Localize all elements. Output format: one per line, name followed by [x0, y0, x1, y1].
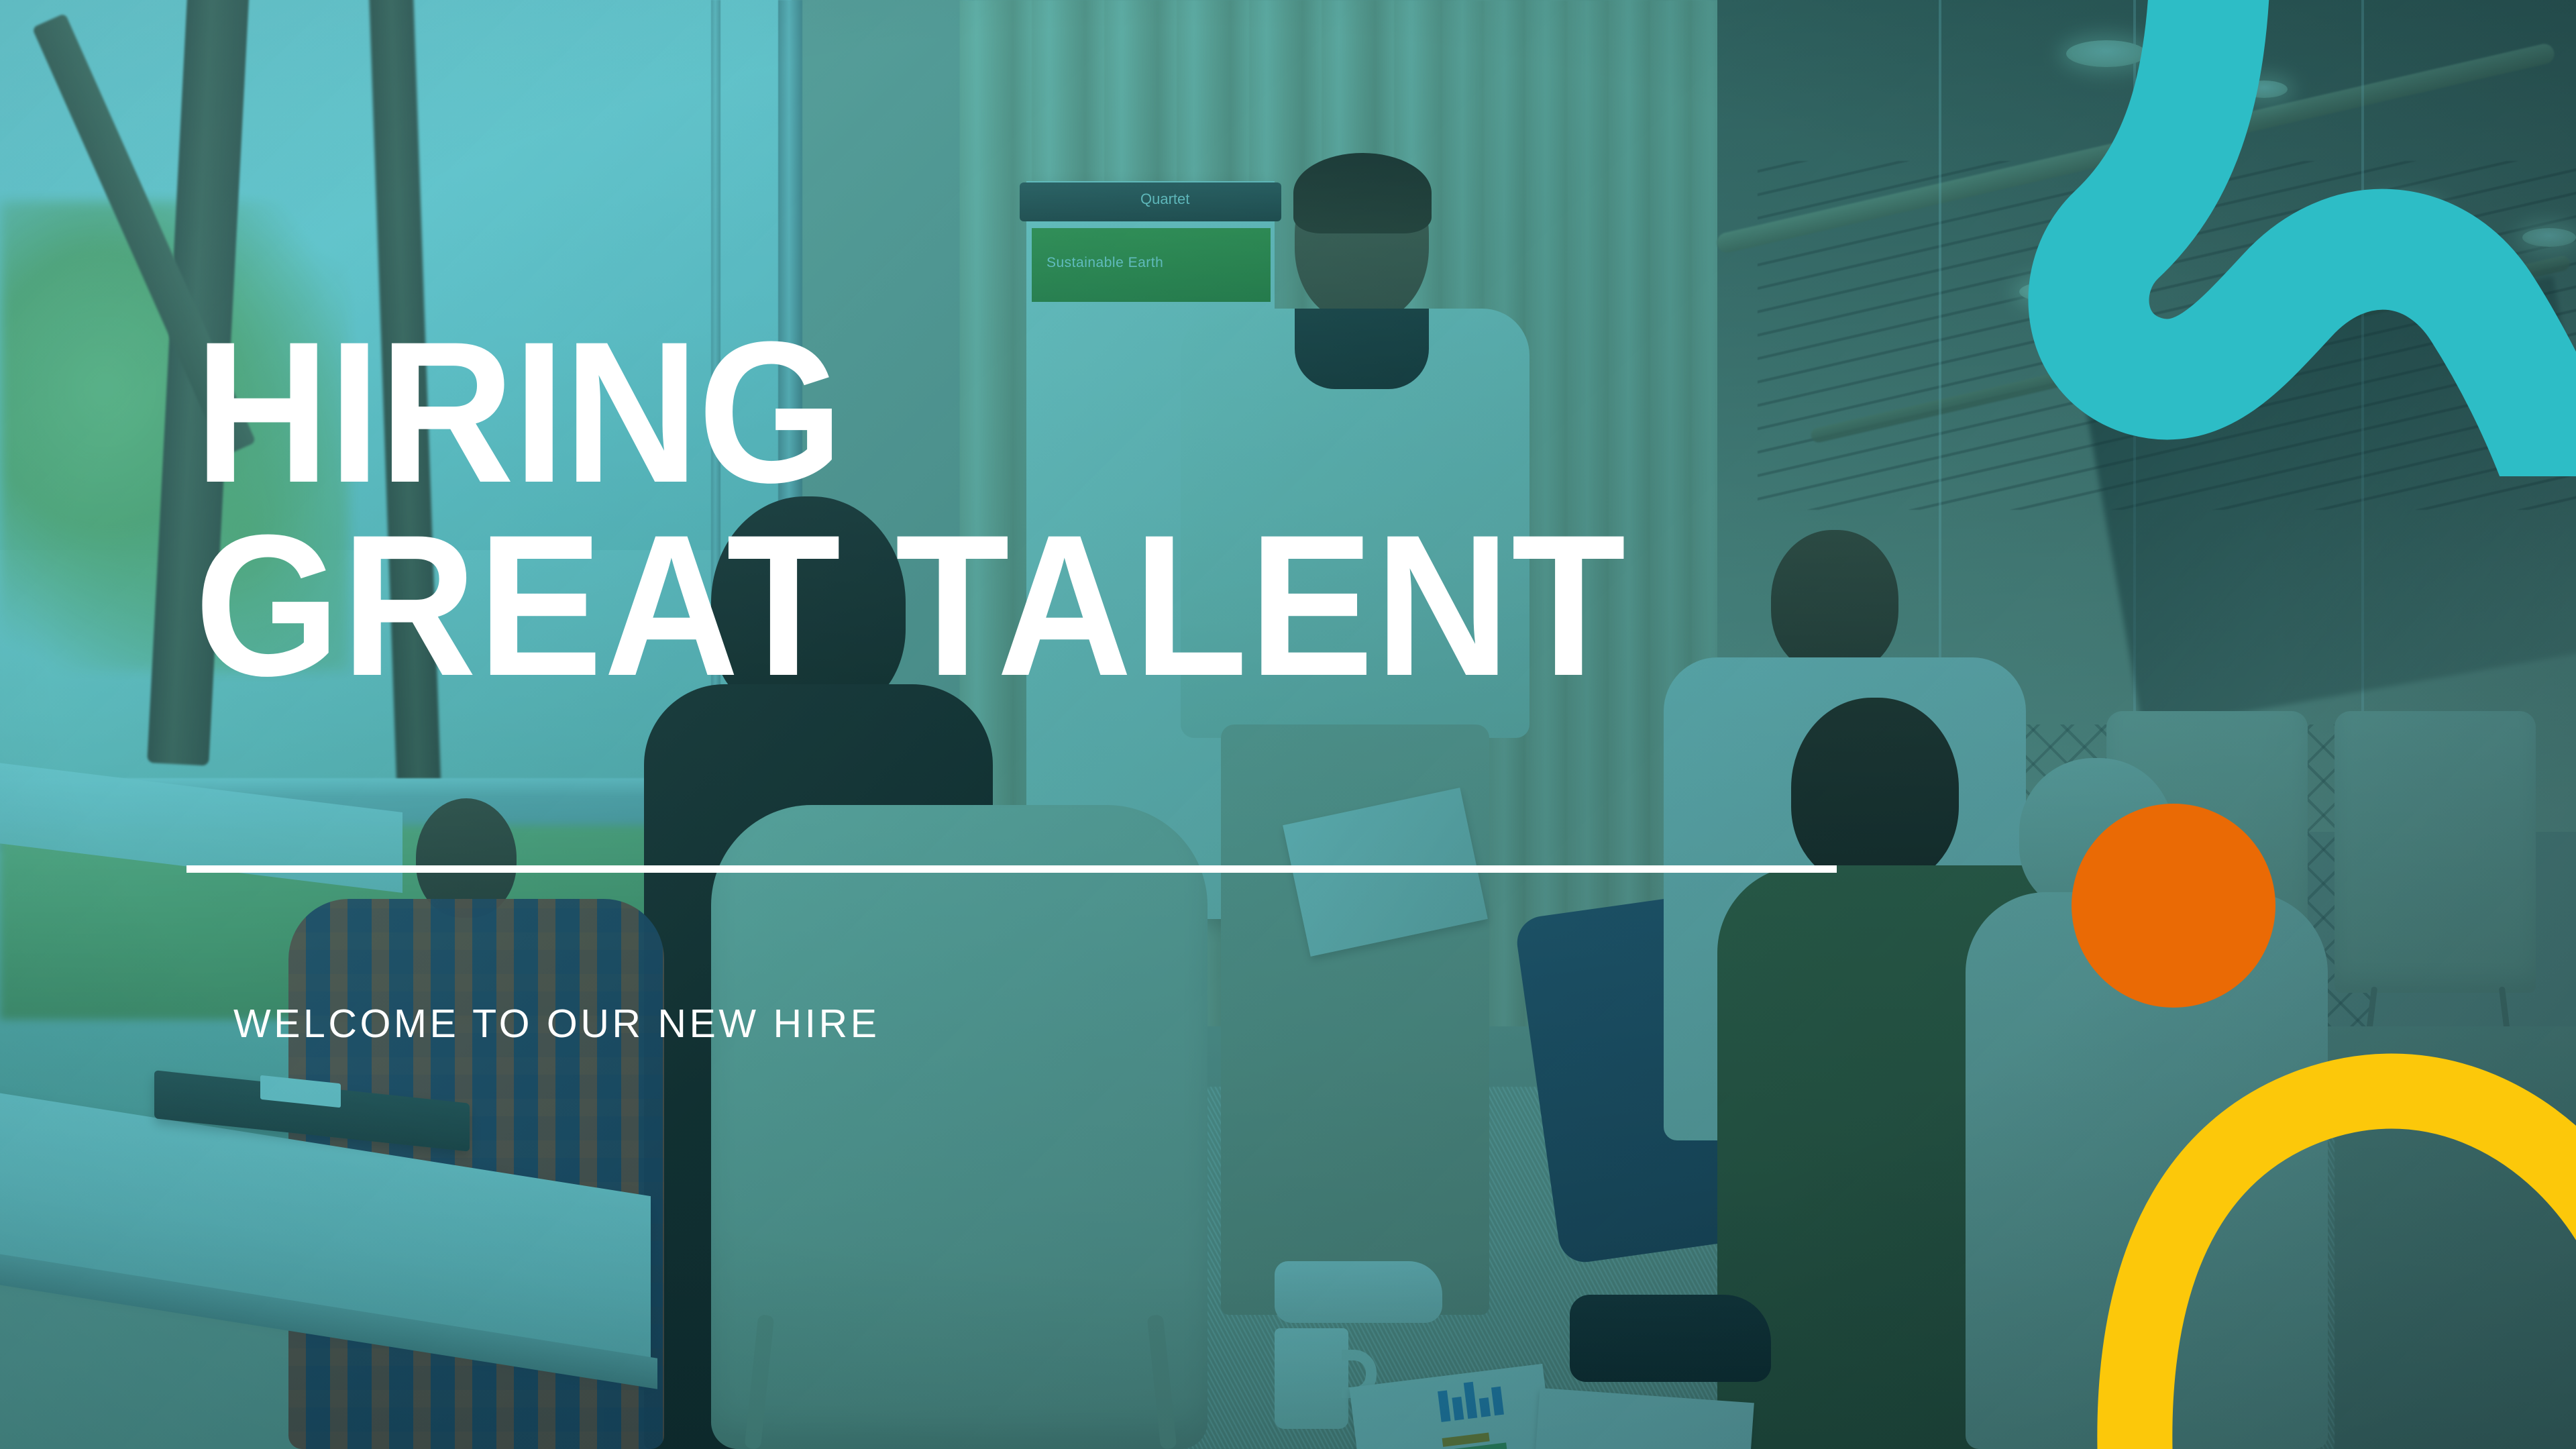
headline-line-1: HIRING: [195, 299, 842, 525]
headline: HIRINGGREAT TALENT: [195, 315, 1627, 702]
headline-line-2: GREAT TALENT: [195, 492, 1627, 718]
poster-canvas: Quartet Sustainable Earth: [0, 0, 2576, 1449]
divider-rule: [186, 865, 1837, 873]
poster-copy: HIRINGGREAT TALENT WELCOME TO OUR NEW HI…: [0, 0, 2576, 1449]
subtitle: WELCOME TO OUR NEW HIRE: [233, 1001, 879, 1046]
